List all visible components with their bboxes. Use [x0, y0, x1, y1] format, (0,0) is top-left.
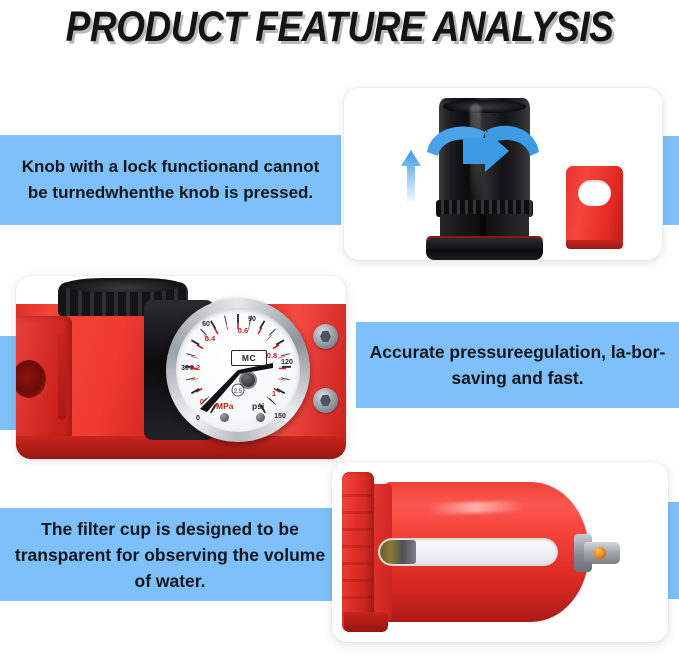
- gauge-unit-psi: psi: [252, 401, 264, 411]
- feature-caption-pressure-regulation: Accurate pressureegulation, la-bor-savin…: [356, 322, 679, 408]
- feature-caption-knob-lock: Knob with a lock functionand cannot be t…: [0, 135, 341, 225]
- filter-cup-foot: [344, 612, 388, 632]
- filter-cup-flange-ribs: [342, 480, 374, 624]
- svg-text:0.6: 0.6: [238, 326, 248, 335]
- regulator-black-cap-top: [64, 278, 182, 292]
- accent-strip-top-right: [663, 136, 679, 225]
- svg-text:30: 30: [181, 365, 189, 372]
- feature-caption-knob-lock-text: Knob with a lock functionand cannot be t…: [0, 154, 341, 206]
- filter-cup-window-float: [380, 540, 416, 564]
- pressure-gauge-photo: 0 0.2 0.4 0.6 0.8 1 0 30 60 90 120: [16, 276, 346, 459]
- feature-caption-pressure-regulation-text: Accurate pressureegulation, la-bor-savin…: [356, 339, 679, 391]
- pressure-gauge-face: 0 0.2 0.4 0.6 0.8 1 0 30 60 90 120: [176, 308, 300, 432]
- red-lock-bracket: [566, 166, 623, 246]
- rotate-arrow-icon: [423, 118, 543, 178]
- svg-text:150: 150: [274, 413, 286, 420]
- pressure-gauge: 0 0.2 0.4 0.6 0.8 1 0 30 60 90 120: [166, 298, 310, 442]
- black-knob-base-flange: [426, 238, 543, 260]
- pressure-gauge-photo-stage: 0 0.2 0.4 0.6 0.8 1 0 30 60 90 120: [16, 276, 346, 459]
- knob-lock-photo: [344, 88, 662, 260]
- pressure-gauge-dial: 0 0.2 0.4 0.6 0.8 1 0 30 60 90 120: [176, 308, 300, 432]
- drain-valve-knob: [594, 547, 606, 559]
- feature-caption-transparent-filter-cup: The filter cup is designed to be transpa…: [0, 508, 340, 601]
- gauge-unit-mpa: MPa: [216, 401, 233, 411]
- regulator-rib: [58, 334, 66, 420]
- red-lock-bracket-foot: [566, 240, 623, 249]
- gauge-face-screw-right: [256, 413, 265, 422]
- svg-text:2.5: 2.5: [234, 389, 243, 395]
- svg-text:0: 0: [200, 397, 204, 406]
- svg-text:0.8: 0.8: [267, 351, 277, 360]
- filter-cup-photo: [332, 462, 668, 642]
- filter-cup-photo-stage: [332, 462, 668, 642]
- lift-arrow-icon: [400, 150, 422, 202]
- svg-text:0.4: 0.4: [205, 334, 216, 343]
- gauge-needle-hub: [241, 373, 255, 387]
- svg-text:0: 0: [196, 415, 200, 422]
- svg-text:90: 90: [248, 316, 256, 323]
- hex-screw-upper: [313, 324, 338, 349]
- svg-text:60: 60: [202, 321, 210, 328]
- feature-caption-transparent-filter-cup-text: The filter cup is designed to be transpa…: [0, 516, 340, 594]
- svg-text:0.2: 0.2: [190, 363, 200, 372]
- gauge-face-screw-left: [220, 413, 229, 422]
- hex-screw-lower: [313, 388, 338, 413]
- gauge-brand-logo: MC: [231, 350, 267, 366]
- svg-text:120: 120: [281, 359, 293, 366]
- page-title: PRODUCT FEATURE ANALYSIS: [48, 2, 632, 52]
- svg-text:1: 1: [272, 389, 276, 398]
- knob-lock-photo-stage: [344, 88, 662, 260]
